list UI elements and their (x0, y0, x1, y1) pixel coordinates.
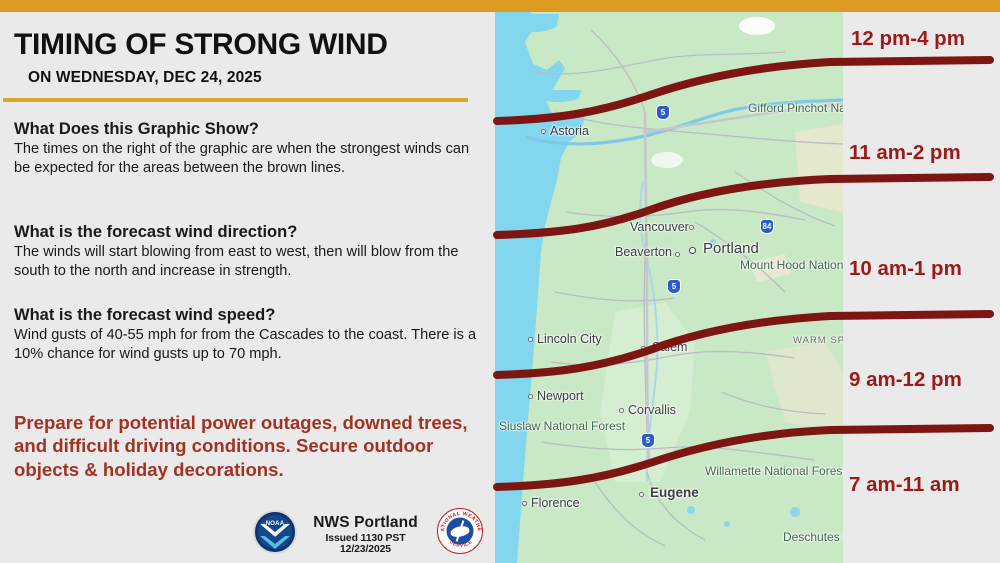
section-heading: What is the forecast wind speed? (14, 306, 484, 325)
time-label-5: 7 am-11 am (849, 473, 960, 497)
map-label-gifford-pinchot: Gifford Pinchot National Forest (748, 101, 843, 115)
map-label-mount-hood: Mount Hood National Forest (740, 258, 843, 272)
city-dot-vancouver (689, 225, 694, 230)
map-label-salem: Salem (652, 340, 687, 354)
map-label-vancouver: Vancouver (630, 220, 689, 234)
nws-logo-icon: NATIONAL WEATHER SERVICE (437, 508, 483, 554)
urban-patch (651, 152, 683, 168)
section-body: Wind gusts of 40-55 mph for from the Cas… (14, 326, 484, 363)
map-label-eugene: Eugene (650, 485, 699, 500)
highway-shield-i5-north: 5 (656, 105, 670, 120)
page-subtitle: ON WEDNESDAY, DEC 24, 2025 (28, 69, 262, 87)
page-title: TIMING OF STRONG WIND (14, 28, 484, 62)
section-graphic-explanation: What Does this Graphic Show? The times o… (14, 120, 484, 177)
section-wind-speed: What is the forecast wind speed? Wind gu… (14, 306, 484, 363)
office-name: NWS Portland (303, 514, 428, 532)
city-dot-florence (522, 501, 527, 506)
section-wind-direction: What is the forecast wind direction? The… (14, 223, 484, 280)
city-dot-newport (528, 394, 533, 399)
map-label-corvallis: Corvallis (628, 403, 676, 417)
map-label-warm-springs-reservation: WARM SPRINGS RESERVATION (793, 335, 843, 346)
map-label-beaverton: Beaverton (615, 245, 672, 259)
map-label-florence: Florence (531, 496, 580, 510)
dry-area-north (795, 124, 843, 212)
map-label-lincoln-city: Lincoln City (537, 332, 602, 346)
top-accent-bar (0, 0, 1000, 12)
map-label-siuslaw: Siuslaw National Forest (499, 419, 609, 433)
issued-timestamp: Issued 1130 PST 12/23/2025 (303, 533, 428, 555)
city-dot-salem (641, 346, 646, 351)
lake (724, 521, 730, 527)
city-dot-beaverton (675, 252, 680, 257)
noaa-logo-icon: NOAA (253, 510, 297, 554)
map-label-newport: Newport (537, 389, 584, 403)
city-dot-portland (689, 247, 696, 254)
time-label-1: 12 pm-4 pm (851, 27, 965, 51)
city-dot-corvallis (619, 408, 624, 413)
highway-shield-i5-south: 5 (641, 433, 655, 448)
office-attribution: NWS Portland Issued 1130 PST 12/23/2025 (303, 514, 428, 555)
time-label-2: 11 am-2 pm (849, 141, 961, 165)
noaa-label: NOAA (266, 521, 284, 527)
section-heading: What Does this Graphic Show? (14, 120, 484, 139)
time-label-3: 10 am-1 pm (849, 257, 962, 281)
map-label-astoria: Astoria (550, 124, 589, 138)
city-dot-astoria (541, 129, 546, 134)
forecast-map: Astoria Vancouver Portland Beaverton Lin… (495, 12, 843, 563)
lake (687, 506, 695, 514)
section-body: The winds will start blowing from east t… (14, 243, 484, 280)
infographic-root: TIMING OF STRONG WIND ON WEDNESDAY, DEC … (0, 0, 1000, 563)
city-dot-eugene (639, 492, 644, 497)
city-dot-lincoln-city (528, 337, 533, 342)
highway-shield-i84: 84 (760, 219, 774, 234)
section-body: The times on the right of the graphic ar… (14, 140, 484, 177)
title-divider (3, 98, 468, 102)
preparedness-callout: Prepare for potential power outages, dow… (14, 411, 474, 481)
snow-patch (739, 17, 775, 35)
text-panel: TIMING OF STRONG WIND ON WEDNESDAY, DEC … (0, 12, 495, 563)
map-label-deschutes: Deschutes National Forest (783, 530, 843, 544)
time-label-4: 9 am-12 pm (849, 368, 962, 392)
section-heading: What is the forecast wind direction? (14, 223, 484, 242)
highway-shield-i5-mid: 5 (667, 279, 681, 294)
map-label-willamette: Willamette National Forest (705, 464, 810, 478)
map-label-portland: Portland (703, 240, 759, 257)
lake (790, 507, 800, 517)
